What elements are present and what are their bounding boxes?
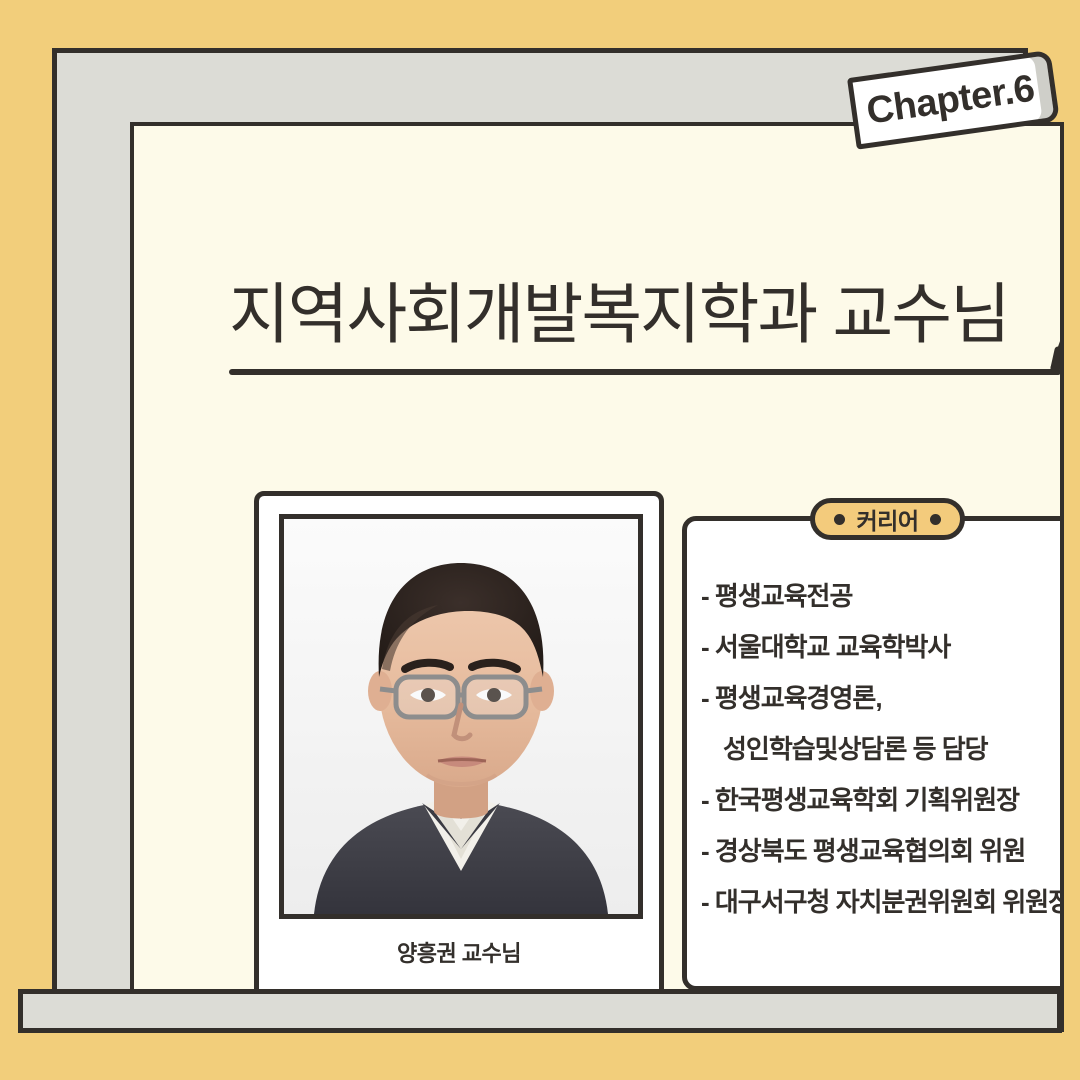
list-item: - 평생교육경영론, [701, 685, 1064, 711]
chapter-tag-label: Chapter.6 [864, 67, 1037, 133]
pencil-icon [1032, 298, 1064, 382]
career-badge: 커리어 [810, 498, 965, 540]
whiteboard-frame: 지역사회개발복지학과 교수님 [52, 48, 1028, 1000]
badge-dot-right [930, 514, 941, 525]
list-item: - 한국평생교육학회 기획위원장 [701, 787, 1064, 813]
profile-card: 양흥권 교수님 [254, 491, 664, 1004]
list-item: - 서울대학교 교육학박사 [701, 634, 1064, 660]
whiteboard-surface: 지역사회개발복지학과 교수님 [130, 122, 1064, 1032]
list-item: 성인학습및상담론 등 담당 [701, 736, 1064, 762]
profile-photo [279, 514, 643, 919]
career-badge-label: 커리어 [857, 502, 919, 536]
career-list: - 평생교육전공 - 서울대학교 교육학박사 - 평생교육경영론, 성인학습및상… [701, 583, 1064, 940]
profile-caption: 양흥권 교수님 [259, 936, 659, 968]
list-item: - 경상북도 평생교육협의회 위원 [701, 838, 1064, 864]
badge-dot-left [834, 514, 845, 525]
whiteboard-tray [18, 989, 1062, 1033]
page-title: 지역사회개발복지학과 교수님 [229, 261, 1009, 357]
portrait-illustration [284, 519, 638, 914]
title-underline [229, 369, 1061, 375]
career-panel: - 평생교육전공 - 서울대학교 교육학박사 - 평생교육경영론, 성인학습및상… [682, 516, 1064, 991]
list-item: - 대구서구청 자치분권위원회 위원장 [701, 889, 1064, 915]
list-item: - 평생교육전공 [701, 583, 1064, 609]
slide-canvas: 지역사회개발복지학과 교수님 [0, 0, 1080, 1080]
